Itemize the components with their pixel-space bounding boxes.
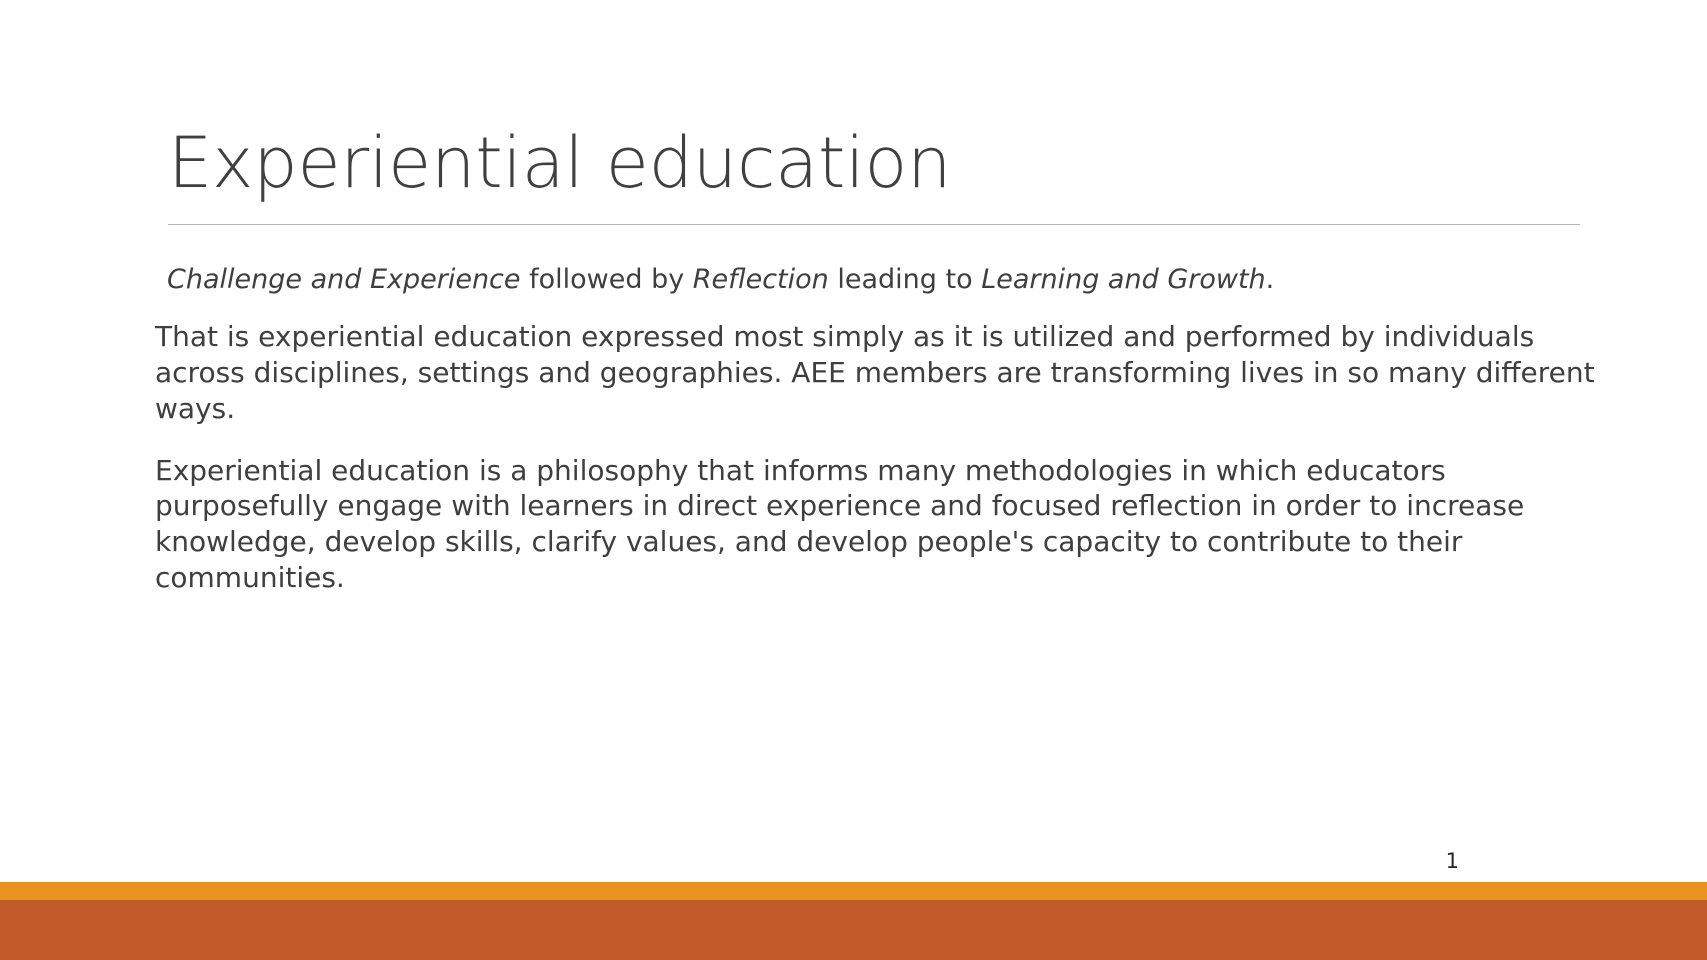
lead-paragraph: Challenge and Experience followed by Ref… bbox=[155, 262, 1595, 297]
lead-emphasis-reflection: Reflection bbox=[693, 264, 829, 295]
page-title: Experiential education bbox=[168, 128, 1598, 198]
body-paragraph-2: Experiential education is a philosophy t… bbox=[155, 453, 1595, 596]
presentation-slide: Experiential education Challenge and Exp… bbox=[0, 0, 1707, 960]
lead-plain-leading-to: leading to bbox=[829, 264, 981, 295]
lead-emphasis-learning-growth: Learning and Growth bbox=[981, 264, 1265, 295]
lead-plain-period: . bbox=[1266, 264, 1275, 295]
slide-body: Challenge and Experience followed by Ref… bbox=[155, 262, 1595, 622]
title-divider bbox=[168, 224, 1580, 225]
page-number: 1 bbox=[1446, 851, 1459, 872]
lead-emphasis-challenge: Challenge and Experience bbox=[167, 264, 521, 295]
title-block: Experiential education bbox=[168, 128, 1598, 225]
footer-accent-bar-dark bbox=[0, 900, 1707, 960]
lead-plain-followed-by: followed by bbox=[521, 264, 693, 295]
body-paragraph-1: That is experiential education expressed… bbox=[155, 319, 1595, 426]
footer-accent-bar-light bbox=[0, 882, 1707, 900]
